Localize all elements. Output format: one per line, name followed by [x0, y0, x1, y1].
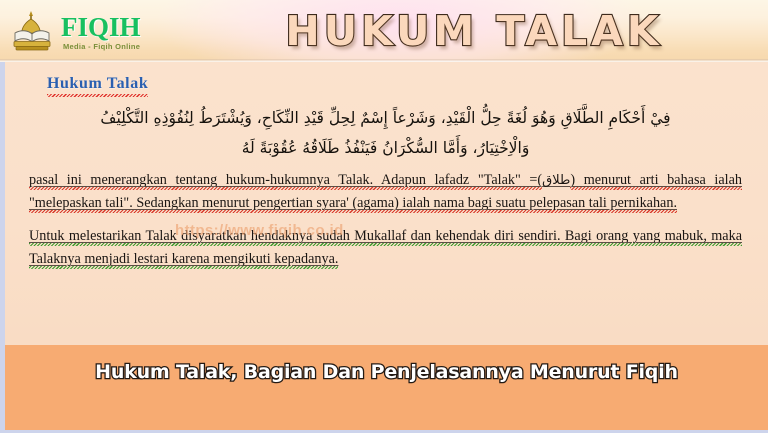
arabic-quote: فِيْ أَحْكَامِ الطَّلَاقِ وَهُوَ لُغَةً … — [29, 103, 742, 163]
mosque-book-icon — [10, 8, 56, 54]
article-heading: Hukum Talak — [47, 75, 148, 97]
arabic-line-1: فِيْ أَحْكَامِ الطَّلَاقِ وَهُوَ لُغَةً … — [29, 103, 742, 133]
caption-bar: Hukum Talak, Bagian Dan Penjelasannya Me… — [0, 345, 768, 433]
header-banner: FIQIH Media - Fiqih Online HUKUM TALAK — [0, 0, 768, 62]
article-paragraphs: pasal ini menerangkan tentang hukum-huku… — [29, 169, 742, 271]
site-logo[interactable]: FIQIH Media - Fiqih Online — [10, 4, 170, 58]
paragraph-1-arabic-term: طلاق — [542, 173, 570, 188]
paragraph-2: Untuk melestarikan Talak disyaratkan hen… — [29, 225, 742, 271]
article-image: FIQIH Media - Fiqih Online HUKUM TALAK H… — [0, 0, 768, 433]
caption-text: Hukum Talak, Bagian Dan Penjelasannya Me… — [95, 361, 678, 383]
logo-tagline: Media - Fiqih Online — [63, 43, 141, 51]
logo-title: FIQIH — [61, 14, 141, 41]
paragraph-2-seg-1: Untuk melestarikan Talak disyaratkan hen… — [29, 228, 742, 269]
article-body: Hukum Talak فِيْ أَحْكَامِ الطَّلَاقِ وَ… — [0, 62, 768, 345]
arabic-line-2: وَالْاِخْتِيَارُ، وَأَمَّا السُّكْرَانُ … — [29, 133, 742, 163]
banner-title: HUKUM TALAK — [186, 0, 762, 62]
paragraph-1-seg-1: pasal ini menerangkan tentang hukum-huku… — [29, 172, 542, 190]
paragraph-1: pasal ini menerangkan tentang hukum-huku… — [29, 169, 742, 215]
